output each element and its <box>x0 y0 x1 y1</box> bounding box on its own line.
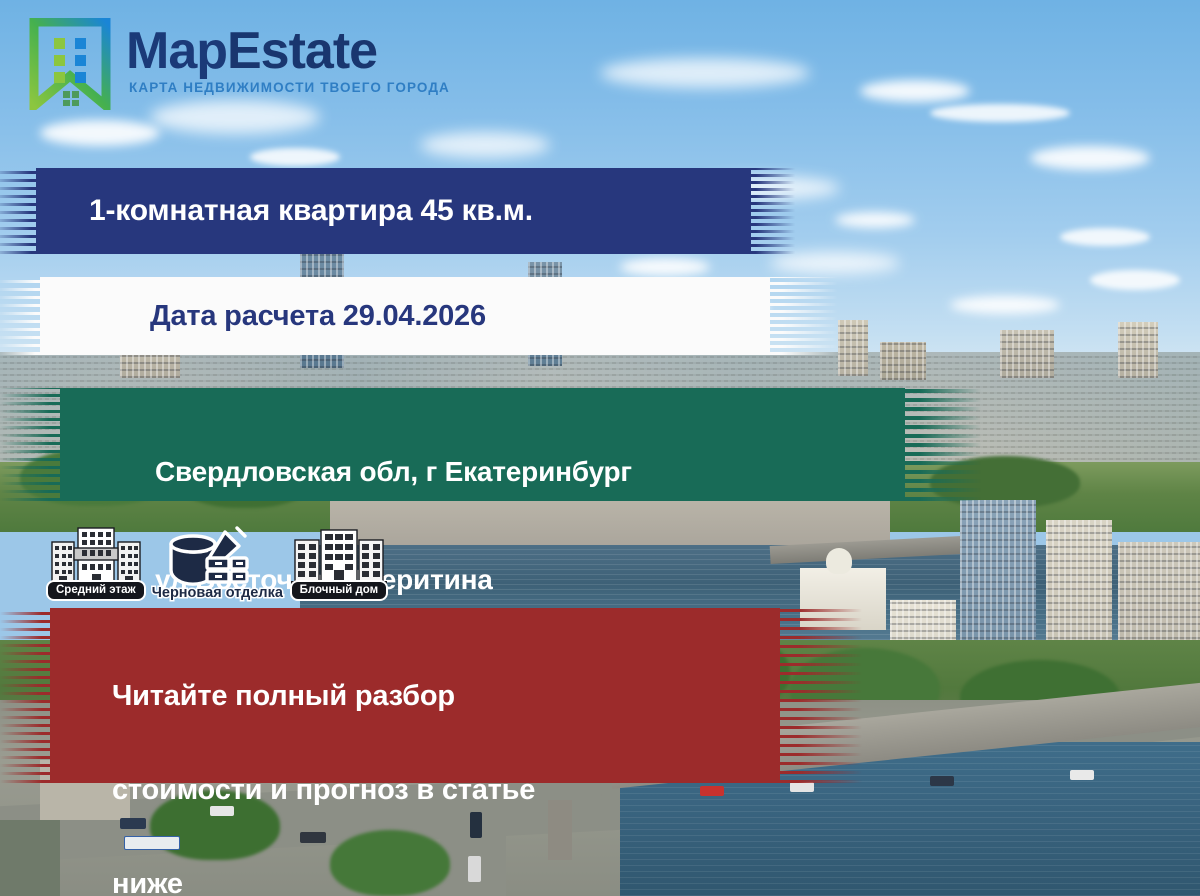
address-line-1: Свердловская обл, г Екатеринбург <box>155 445 905 499</box>
property-title-text: 1-комнатная квартира 45 кв.м. <box>36 168 751 254</box>
cta-line-1: Читайте полный разбор <box>112 673 780 720</box>
logo-tagline: КАРТА НЕДВИЖИМОСТИ ТВОЕГО ГОРОДА <box>129 80 450 95</box>
brush-edge-right <box>749 168 795 254</box>
brush-edge-left <box>0 168 38 254</box>
address-banner: Свердловская обл, г Екатеринбург ул Вост… <box>60 388 905 501</box>
cta-line-2: стоимости и прогноз в статье <box>112 767 780 814</box>
cta-banner: Читайте полный разбор стоимости и прогно… <box>50 608 780 783</box>
badge-floor-level[interactable]: Средний этаж <box>46 526 146 601</box>
brush-edge-left <box>0 388 62 501</box>
calculation-date-text: Дата расчета 29.04.2026 <box>40 277 770 355</box>
badge-label: Блочный дом <box>290 580 389 601</box>
badge-label: Средний этаж <box>46 580 146 601</box>
property-attribute-badges: Средний этаж <box>46 524 389 601</box>
brush-edge-right <box>903 388 981 501</box>
brush-edge-right <box>768 277 838 355</box>
badge-house-type[interactable]: Блочный дом <box>289 526 389 601</box>
paint-bucket-trowel-bricks-icon <box>163 524 271 591</box>
cta-line-3: ниже <box>112 861 780 896</box>
bookmark-building-icon <box>28 18 112 110</box>
calculation-date-banner: Дата расчета 29.04.2026 <box>40 277 770 355</box>
poster-canvas: MapEstate КАРТА НЕДВИЖИМОСТИ ТВОЕГО ГОРО… <box>0 0 1200 896</box>
brush-edge-left <box>0 277 42 355</box>
badge-interior-finish[interactable]: Черновая отделка <box>152 524 283 601</box>
brush-edge-left <box>0 608 52 783</box>
logo[interactable]: MapEstate КАРТА НЕДВИЖИМОСТИ ТВОЕГО ГОРО… <box>28 18 450 110</box>
brand-name-part1: Map <box>126 22 227 80</box>
logo-wordmark: MapEstate КАРТА НЕДВИЖИМОСТИ ТВОЕГО ГОРО… <box>126 18 450 95</box>
badge-label: Черновая отделка <box>152 585 283 601</box>
property-title-banner: 1-комнатная квартира 45 кв.м. <box>36 168 751 254</box>
brand-name-part2: Estate <box>227 22 377 80</box>
